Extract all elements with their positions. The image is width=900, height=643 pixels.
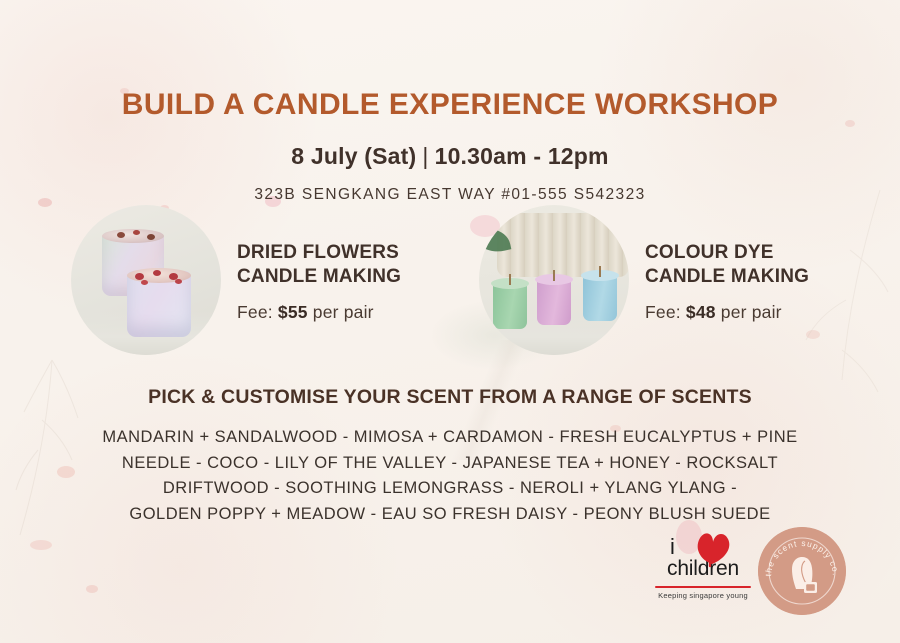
workshop-card-text: COLOUR DYE CANDLE MAKING Fee: $48 per pa… (645, 237, 809, 322)
butterfly-icon (692, 530, 732, 570)
separator-bar: | (422, 143, 428, 170)
workshop-title: COLOUR DYE CANDLE MAKING (645, 241, 809, 287)
workshop-title-line1: DRIED FLOWERS (237, 241, 401, 264)
colour-dye-candles-photo (479, 205, 629, 355)
candle-jar-blue (583, 275, 617, 321)
fee-suffix: per pair (313, 302, 374, 322)
scents-heading: PICK & CUSTOMISE YOUR SCENT FROM A RANGE… (0, 386, 900, 409)
dried-petal (133, 230, 140, 235)
dried-petal (141, 280, 148, 285)
fee-label: Fee: (237, 302, 273, 322)
poster-canvas: BUILD A CANDLE EXPERIENCE WORKSHOP 8 Jul… (0, 0, 900, 643)
workshop-fee: Fee: $48 per pair (645, 302, 809, 323)
event-time: 10.30am - 12pm (435, 143, 609, 169)
scent-list: MANDARIN + SANDALWOOD - MIMOSA + CARDAMO… (0, 425, 900, 528)
dried-petal (175, 279, 182, 284)
candle-wick (599, 266, 601, 277)
fee-suffix: per pair (721, 302, 782, 322)
event-date: 8 July (Sat) (291, 143, 416, 169)
scent-line: DRIFTWOOD - SOOTHING LEMONGRASS - NEROLI… (0, 476, 900, 502)
logo-rule (655, 586, 751, 588)
logo-row: i children Keeping singapore young the s… (640, 518, 860, 623)
scent-supply-co-logo: the scent supply co. (758, 527, 846, 615)
fee-price: $55 (278, 302, 308, 322)
letter-i: i (670, 536, 675, 558)
scent-supply-badge: the scent supply co. (758, 527, 846, 615)
scent-line: MANDARIN + SANDALWOOD - MIMOSA + CARDAMO… (0, 425, 900, 451)
dried-flower-candles-photo (71, 205, 221, 355)
logo-tagline: Keeping singapore young (648, 591, 758, 600)
candle-jar-pink (537, 279, 571, 325)
workshop-card-colour-dye: COLOUR DYE CANDLE MAKING Fee: $48 per pa… (479, 205, 829, 355)
candle-wick (509, 274, 511, 285)
page-title: BUILD A CANDLE EXPERIENCE WORKSHOP (0, 88, 900, 121)
workshop-card-dried-flowers: DRIED FLOWERS CANDLE MAKING Fee: $55 per… (71, 205, 421, 355)
i-children-logo: i children Keeping singapore young (648, 530, 758, 600)
dried-petal (135, 273, 144, 280)
venue-address: 323B SENGKANG EAST WAY #01-555 S542323 (0, 186, 900, 204)
workshop-title-line2: CANDLE MAKING (237, 265, 401, 288)
dried-petal (147, 234, 155, 240)
fee-label: Fee: (645, 302, 681, 322)
paper-speck (30, 540, 52, 550)
i-children-wordmark: i (648, 530, 758, 564)
workshop-title-line1: COLOUR DYE (645, 241, 809, 264)
dried-petal (117, 232, 125, 238)
workshop-title: DRIED FLOWERS CANDLE MAKING (237, 241, 401, 287)
workshop-title-line2: CANDLE MAKING (645, 265, 809, 288)
woven-basket-backdrop (497, 213, 629, 277)
date-time-line: 8 July (Sat)|10.30am - 12pm (0, 143, 900, 170)
candle-wick (553, 270, 555, 281)
paper-speck (86, 585, 98, 593)
workshop-card-text: DRIED FLOWERS CANDLE MAKING Fee: $55 per… (237, 237, 401, 322)
scent-line: NEEDLE - COCO - LILY OF THE VALLEY - JAP… (0, 451, 900, 477)
workshop-cards: DRIED FLOWERS CANDLE MAKING Fee: $55 per… (0, 205, 900, 355)
poster-header: BUILD A CANDLE EXPERIENCE WORKSHOP 8 Jul… (0, 88, 900, 204)
dried-petal (153, 270, 161, 276)
candle-jar-green (493, 283, 527, 329)
workshop-fee: Fee: $55 per pair (237, 302, 401, 323)
scents-section: PICK & CUSTOMISE YOUR SCENT FROM A RANGE… (0, 386, 900, 528)
fee-price: $48 (686, 302, 716, 322)
